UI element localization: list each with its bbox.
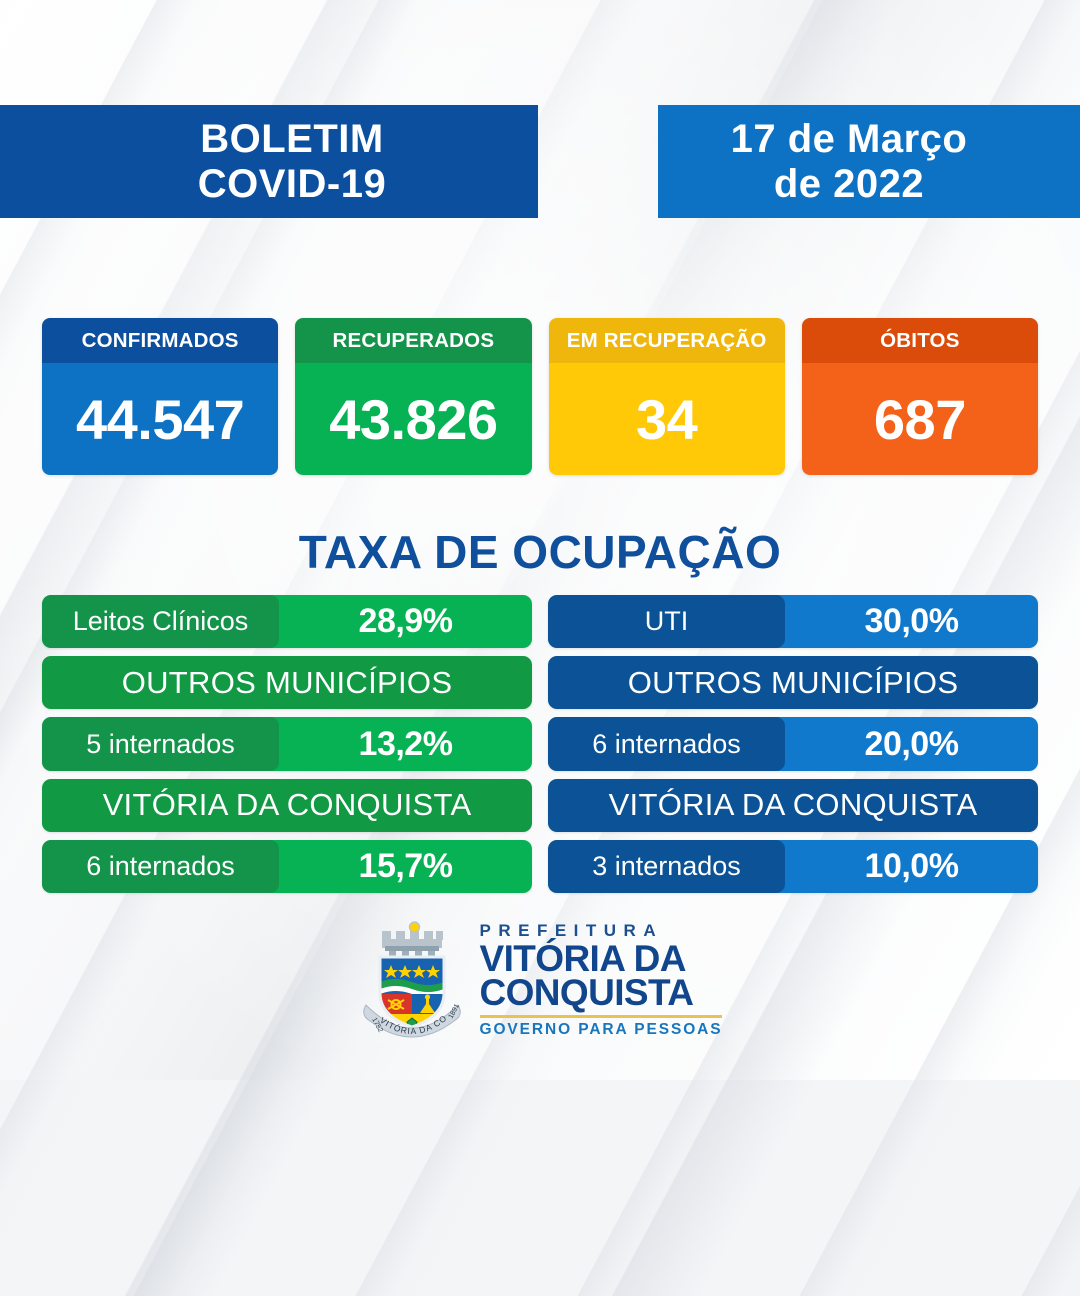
stat-card-recuperados: RECUPERADOS 43.826 <box>295 318 531 475</box>
stat-card-value: 687 <box>802 363 1038 475</box>
occupancy-row-value: 28,9% <box>279 595 532 648</box>
logo-wordmark: PREFEITURA VITÓRIA DA CONQUISTA GOVERNO … <box>480 921 723 1040</box>
logo-slogan: GOVERNO PARA PESSOAS <box>480 1021 723 1039</box>
stat-card-label: CONFIRMADOS <box>42 318 278 363</box>
stat-card-group: CONFIRMADOS 44.547 RECUPERADOS 43.826 EM… <box>42 318 1038 475</box>
occupancy-row-value: 10,0% <box>785 840 1038 893</box>
occupancy-column-uti: UTI 30,0% OUTROS MUNICÍPIOS 6 internados… <box>548 595 1038 893</box>
occupancy-row-value: 20,0% <box>785 717 1038 770</box>
stat-card-value: 44.547 <box>42 363 278 475</box>
stat-card-value: 43.826 <box>295 363 531 475</box>
stat-card-label: RECUPERADOS <box>295 318 531 363</box>
occupancy-row: 6 internados 20,0% <box>548 717 1038 770</box>
occupancy-row: Leitos Clínicos 28,9% <box>42 595 532 648</box>
occupancy-column-leitos-clinicos: Leitos Clínicos 28,9% OUTROS MUNICÍPIOS … <box>42 595 532 893</box>
occupancy-band-vitoria-da-conquista: VITÓRIA DA CONQUISTA <box>548 779 1038 832</box>
occupancy-row: 3 internados 10,0% <box>548 840 1038 893</box>
occupancy-row-value: 30,0% <box>785 595 1038 648</box>
stat-card-label: ÓBITOS <box>802 318 1038 363</box>
occupancy-row-value: 13,2% <box>279 717 532 770</box>
occupancy-band-outros-municipios: OUTROS MUNICÍPIOS <box>548 656 1038 709</box>
occupancy-band-label: VITÓRIA DA CONQUISTA <box>609 787 978 823</box>
occupancy-band-outros-municipios: OUTROS MUNICÍPIOS <box>42 656 532 709</box>
stat-card-value: 34 <box>549 363 785 475</box>
occupancy-row: 5 internados 13,2% <box>42 717 532 770</box>
occupancy-band-label: VITÓRIA DA CONQUISTA <box>103 787 472 823</box>
occupancy-row: 6 internados 15,7% <box>42 840 532 893</box>
bulletin-date-line2: de 2022 <box>774 162 924 207</box>
stat-card-label: EM RECUPERAÇÃO <box>549 318 785 363</box>
footer-logo: 1752 1891 VITÓRIA DA CONQUISTA PREFEITUR… <box>0 915 1080 1045</box>
logo-city-line2: CONQUISTA <box>480 976 723 1010</box>
bulletin-title-banner: BOLETIM COVID-19 <box>0 105 538 218</box>
occupancy-band-label: OUTROS MUNICÍPIOS <box>122 665 453 701</box>
occupancy-row-label: 3 internados <box>548 840 785 893</box>
occupancy-row-label: 5 internados <box>42 717 279 770</box>
logo-city-line1: VITÓRIA DA <box>480 942 723 976</box>
bulletin-date-banner: 17 de Março de 2022 <box>658 105 1080 218</box>
bulletin-title-line2: COVID-19 <box>198 162 387 207</box>
occupancy-row-value: 15,7% <box>279 840 532 893</box>
bulletin-date-line1: 17 de Março <box>731 117 968 162</box>
stat-card-em-recuperacao: EM RECUPERAÇÃO 34 <box>549 318 785 475</box>
occupancy-row-label: Leitos Clínicos <box>42 595 279 648</box>
stat-card-confirmados: CONFIRMADOS 44.547 <box>42 318 278 475</box>
bulletin-title-line1: BOLETIM <box>200 117 383 162</box>
occupancy-row-label: 6 internados <box>548 717 785 770</box>
occupancy-row-label: 6 internados <box>42 840 279 893</box>
stat-card-obitos: ÓBITOS 687 <box>802 318 1038 475</box>
logo-divider <box>480 1015 723 1018</box>
poster-canvas: BOLETIM COVID-19 17 de Março de 2022 CON… <box>0 0 1080 1080</box>
occupancy-row-label: UTI <box>548 595 785 648</box>
occupancy-table: Leitos Clínicos 28,9% OUTROS MUNICÍPIOS … <box>42 595 1038 893</box>
coat-of-arms-icon: 1752 1891 VITÓRIA DA CONQUISTA <box>358 919 466 1041</box>
occupancy-band-vitoria-da-conquista: VITÓRIA DA CONQUISTA <box>42 779 532 832</box>
occupancy-band-label: OUTROS MUNICÍPIOS <box>628 665 959 701</box>
occupancy-section-title: TAXA DE OCUPAÇÃO <box>0 525 1080 579</box>
occupancy-row: UTI 30,0% <box>548 595 1038 648</box>
